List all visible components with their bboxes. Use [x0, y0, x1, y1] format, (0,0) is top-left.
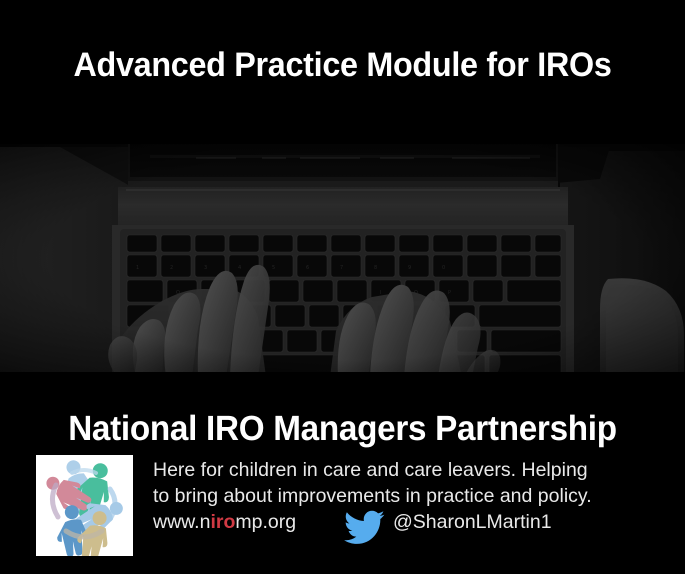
- page-title: Advanced Practice Module for IROs: [17, 46, 668, 85]
- presentation-slide: Advanced Practice Module for IROs: [0, 0, 685, 574]
- twitter-handle[interactable]: @SharonLMartin1: [393, 509, 552, 535]
- circle-of-people-logo: [36, 455, 133, 556]
- website-prefix: www.n: [153, 511, 210, 533]
- contact-row: www.niromp.org @SharonLMartin1: [153, 509, 673, 549]
- tagline-line-1: Here for children in care and care leave…: [153, 457, 673, 483]
- laptop-typing-photo: 12 34 56 78 90 QW IO P AS: [0, 139, 685, 377]
- twitter-bird-icon[interactable]: [343, 510, 387, 546]
- tagline-line-2: to bring about improvements in practice …: [153, 483, 673, 509]
- website-highlight: iro: [210, 511, 235, 533]
- tagline: Here for children in care and care leave…: [153, 457, 673, 509]
- website-link[interactable]: www.niromp.org: [153, 509, 296, 535]
- website-suffix: mp.org: [235, 511, 296, 533]
- organisation-name: National IRO Managers Partnership: [17, 409, 668, 449]
- footer: Here for children in care and care leave…: [0, 452, 685, 574]
